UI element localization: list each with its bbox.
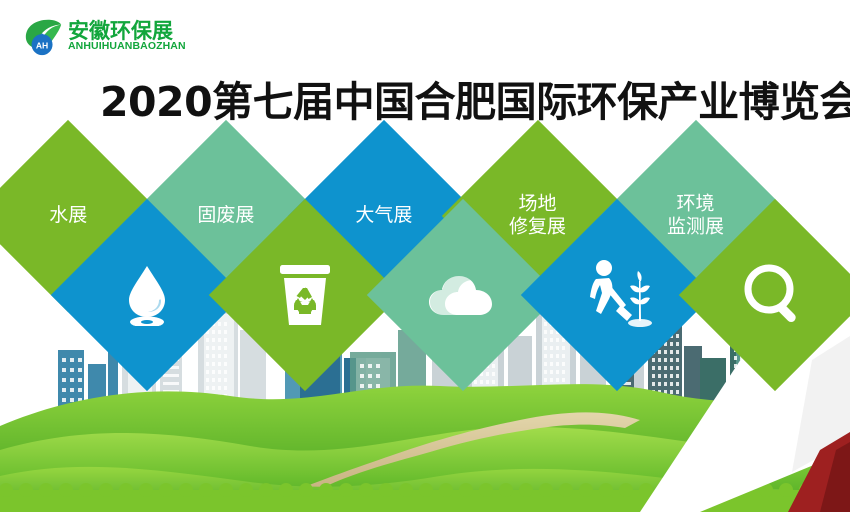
tree-planting-icon <box>580 259 654 331</box>
logo-mark-icon: AH <box>22 16 64 58</box>
logo-name-en: ANHUIHUANBAOZHAN <box>68 40 186 52</box>
water-drop-icon <box>119 264 175 326</box>
page-title: 2020第七届中国合肥国际环保产业博览会 <box>100 68 850 128</box>
svg-text:AH: AH <box>36 40 48 50</box>
diamond-label-solid-waste-text: 固废展 <box>197 204 254 227</box>
corner-band-decor-2 <box>0 0 15 173</box>
logo[interactable]: AH 安徽环保展 ANHUIHUANBAOZHAN <box>22 14 182 60</box>
diamond-label-site-remediation-text: 场地 修复展 <box>509 193 566 239</box>
diamond-label-air-text: 大气展 <box>355 204 412 227</box>
cloud-icon <box>428 271 498 319</box>
poster-banner: AH 安徽环保展 ANHUIHUANBAOZHAN 2020第七届中国合肥国际环… <box>0 0 850 512</box>
diamond-label-env-monitoring-text: 环境 监测展 <box>667 193 724 239</box>
diamond-label-water-text: 水展 <box>49 204 87 227</box>
magnifier-icon <box>744 264 806 326</box>
recycle-bin-icon <box>274 263 336 327</box>
